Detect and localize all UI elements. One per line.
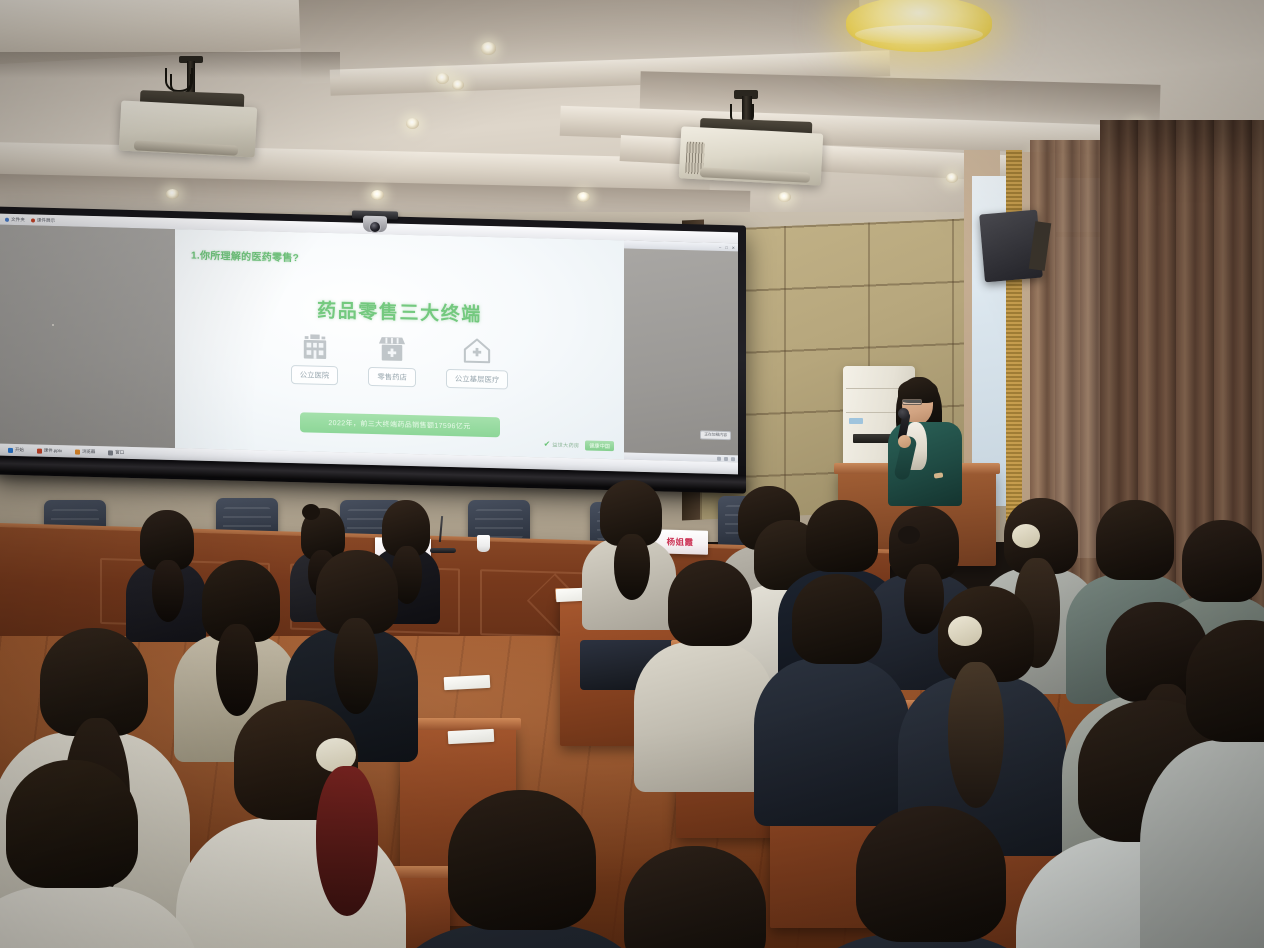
ceiling-downlight [436,73,449,84]
round-ceiling-lamp [846,0,992,52]
taskbar-item-ppt[interactable]: 课件.pptx [34,446,65,455]
status-pip [724,456,728,460]
taskbar-start-button[interactable]: 开始 [5,446,27,455]
taskbar-item-label: 课件.pptx [44,448,62,454]
interactive-display[interactable]: 文件夹 课件展示 1.你所理解的医药零售? 药品零售三大终端 [0,206,746,493]
taskbar-item-label: 浏览器 [82,449,95,455]
loading-badge: 正在加载内容 [700,430,731,440]
presenter [880,374,990,504]
presenter-hand [898,435,911,448]
secondary-logo-text: 健康中国 [585,440,614,451]
browser-icon [75,449,80,454]
os-topbar-item[interactable]: 课件展示 [31,217,55,224]
hospital-building-icon [300,332,330,361]
os-topbar-item[interactable]: 文件夹 [5,216,25,223]
handout-paper [444,675,491,690]
minimize-icon[interactable]: – [719,244,721,249]
lecture-hall-scene: 文件夹 课件展示 1.你所理解的医药零售? 药品零售三大终端 [0,0,1264,948]
ceiling-downlight [946,173,958,183]
slide-logos: ✔ 益世大药房 健康中国 [544,439,614,451]
start-icon [8,447,13,452]
clinic-house-icon [462,336,492,365]
terminal-item: 公立医院 [291,332,339,385]
taskbar-item-browser[interactable]: 浏览器 [72,447,98,456]
folder-icon [5,217,9,221]
slide-heading: 药品零售三大终端 [175,292,624,330]
camera-lens-icon [369,221,381,233]
terminal-item: 零售药店 [368,334,416,387]
os-topbar-item-label: 课件展示 [37,217,55,223]
primary-logo-text: 益世大药房 [552,441,579,449]
ceiling-downlight [371,190,384,200]
maximize-icon[interactable]: □ [725,244,727,249]
ceiling-downlight [452,80,464,90]
terminal-label: 公立基层医疗 [446,369,508,390]
status-pip [717,456,721,460]
window-icon [108,450,113,455]
desk-microphone [430,548,456,553]
os-topbar-item-label: 文件夹 [11,216,25,222]
microphone-head-icon [898,408,909,419]
taskbar-item-window[interactable]: 窗口 [105,448,127,457]
ceiling-downlight [481,42,496,55]
eyeglasses-icon [902,399,922,405]
presentation-slide[interactable]: 1.你所理解的医药零售? 药品零售三大终端 [175,229,624,459]
pharmacy-storefront-icon [377,334,407,363]
display-screen[interactable]: 文件夹 课件展示 1.你所理解的医药零售? 药品零售三大终端 [0,214,738,475]
ceiling-downlight [778,192,791,202]
ceiling-downlight [577,192,590,202]
taskbar-item-label: 开始 [15,447,24,453]
terminal-label: 公立医院 [291,365,339,385]
display-panel-left[interactable] [0,225,175,448]
ceiling-downlight [406,118,419,129]
handout-paper [448,729,495,744]
hair-scrunchie [948,616,982,646]
close-icon[interactable]: ✕ [732,245,735,250]
status-pip [731,457,735,461]
primary-logo: ✔ 益世大药房 [544,440,580,449]
slide-question: 1.你所理解的医药零售? [191,246,299,264]
check-leaf-icon: ✔ [544,440,551,448]
app-icon [31,218,35,222]
window-titlebar: – □ ✕ [624,240,738,251]
slide-banner: 2022年，前三大终端药品销售额17596亿元 [300,412,500,437]
slide-terminals: 公立医院 [175,329,624,392]
ac-badge [849,418,863,424]
taskbar-item-label: 窗口 [115,450,124,456]
terminal-item: 公立基层医疗 [446,336,508,390]
hair-scrunchie [1012,524,1040,548]
terminal-label: 零售药店 [368,367,416,387]
display-panel-right[interactable]: – □ ✕ 正在加载内容 [624,240,738,462]
paper-cup [477,535,490,552]
powerpoint-icon [37,448,42,453]
cursor-dot [52,324,54,326]
ceiling-downlight [166,189,179,199]
